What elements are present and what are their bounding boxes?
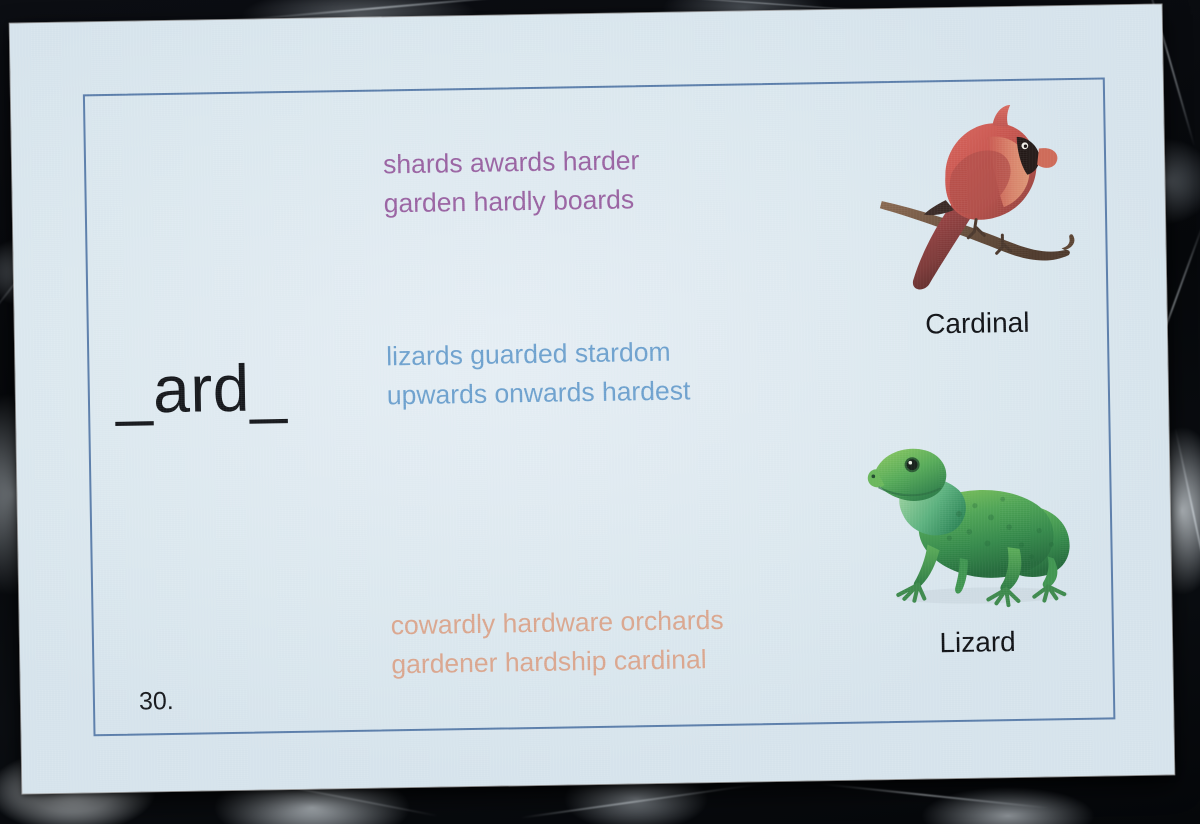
- word-family-pattern: _ard_: [115, 349, 288, 428]
- photo-scene: _ard_ shards awards harder garden hardly…: [0, 0, 1200, 824]
- word-group-salmon: cowardly hardware orchards gardener hard…: [390, 601, 724, 685]
- word-line: gardener hardship cardinal: [391, 640, 724, 685]
- head-shape: [875, 448, 947, 501]
- beak-shape: [1037, 148, 1058, 168]
- branch-twig: [1061, 234, 1074, 250]
- green-lizard-illustration: [862, 426, 1090, 625]
- crest-shape: [992, 105, 1010, 127]
- picture-label-lizard: Lizard: [865, 625, 1090, 661]
- word-group-purple: shards awards harder garden hardly board…: [383, 141, 641, 223]
- word-line: shards awards harder: [383, 141, 640, 184]
- word-line: cowardly hardware orchards: [390, 601, 723, 646]
- page-number: 30.: [139, 687, 174, 717]
- word-group-blue: lizards guarded stardom upwards onwards …: [386, 332, 691, 415]
- flashcard: _ard_ shards awards harder garden hardly…: [10, 5, 1175, 794]
- front-leg-shape: [913, 544, 940, 588]
- word-line: lizards guarded stardom: [386, 332, 690, 376]
- picture-label-cardinal: Cardinal: [870, 306, 1086, 342]
- cardinal-bird-illustration: [866, 102, 1084, 306]
- lizard-image-frame: [862, 426, 1090, 625]
- word-line: garden hardly boards: [383, 180, 640, 223]
- picture-cardinal: Cardinal: [866, 102, 1085, 342]
- picture-lizard: Lizard: [862, 426, 1091, 661]
- word-line: upwards onwards hardest: [387, 371, 691, 415]
- cardinal-image-frame: [866, 102, 1084, 306]
